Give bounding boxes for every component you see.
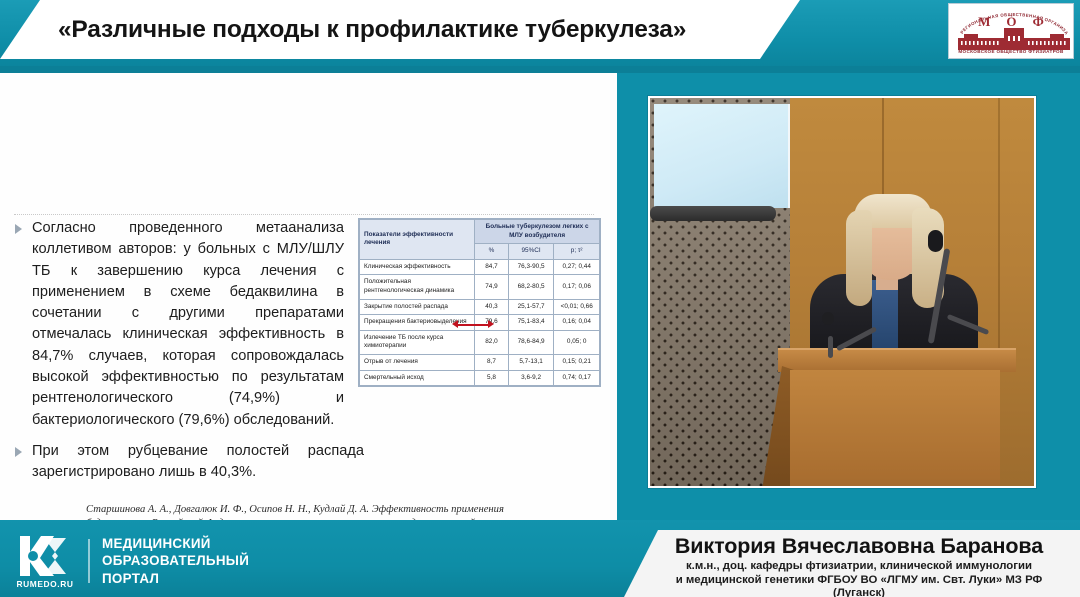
building-icon <box>958 28 1070 50</box>
rumedo-brand[interactable]: RUMEDO.RU МЕДИЦИНСКИЙ ОБРАЗОВАТЕЛЬНЫЙ ПО… <box>14 534 249 588</box>
col-header-indicators: Показатели эффективности лечения <box>360 220 475 260</box>
header-underline <box>0 66 1080 73</box>
rumedo-logo-icon: RUMEDO.RU <box>14 534 76 588</box>
row-percent: 8,7 <box>475 354 509 370</box>
speaker-hair-left <box>846 210 872 306</box>
speaker-role-line: к.м.н., доц. кафедры фтизиатрии, клиниче… <box>630 560 1080 574</box>
tagline-line: ОБРАЗОВАТЕЛЬНЫЙ <box>102 552 249 570</box>
table-row: Закрытие полостей распада 40,3 25,1-57,7… <box>360 299 600 315</box>
row-label: Отрыв от лечения <box>360 354 475 370</box>
table-row: Клиническая эффективность 84,7 76,3-90,5… <box>360 259 600 275</box>
table-row: Прекращения бактериовыделения 79,6 75,1-… <box>360 315 600 331</box>
title-banner: «Различные подходы к профилактике туберк… <box>0 0 800 59</box>
speaker-name: Виктория Вячеславовна Баранова <box>630 534 1080 559</box>
microphone-head-icon <box>822 312 834 325</box>
col-header-p: p; τ² <box>554 244 600 260</box>
bullet-text-1: Согласно проведенного метаанализа коллет… <box>32 218 344 431</box>
page-title: «Различные подходы к профилактике туберк… <box>58 16 686 44</box>
row-p: 0,27; 0,44 <box>554 259 600 275</box>
mof-logo-inner: МЕЖРЕГИОНАЛЬНАЯ ОБЩЕСТВЕННАЯ ОРГАНИЗАЦИЯ… <box>951 6 1071 56</box>
row-ci: 78,6-84,9 <box>508 330 554 354</box>
row-p: 0,15; 0,21 <box>554 354 600 370</box>
screen-roller <box>650 206 776 221</box>
row-percent: 74,9 <box>475 275 509 299</box>
col-header-percent: % <box>475 244 509 260</box>
table-row: Смертельный исход 5,8 3,6-9,2 0,74; 0,17 <box>360 370 600 386</box>
rumedo-wordmark: RUMEDO.RU <box>14 579 76 589</box>
row-ci: 25,1-57,7 <box>508 299 554 315</box>
row-p: 0,05; 0 <box>554 330 600 354</box>
podium-top <box>778 348 1016 372</box>
row-p: 0,17; 0,06 <box>554 275 600 299</box>
row-label: Прекращения бактериовыделения <box>360 315 475 331</box>
row-label: Закрытие полостей распада <box>360 299 475 315</box>
slide-top-rule <box>14 214 594 215</box>
row-ci: 76,3-90,5 <box>508 259 554 275</box>
row-p: 0,74; 0,17 <box>554 370 600 386</box>
citation-line: Старшинова А. А., Довгалюк И. Ф., Осипов… <box>86 503 594 517</box>
row-ci: 3,6-9,2 <box>508 370 554 386</box>
table-row: Отрыв от лечения 8,7 5,7-13,1 0,15; 0,21 <box>360 354 600 370</box>
bullet-triangle-icon <box>14 447 24 457</box>
speaker-shirt <box>872 280 898 354</box>
speaker-role: к.м.н., доц. кафедры фтизиатрии, клиниче… <box>630 560 1080 597</box>
row-percent: 79,6 <box>475 315 509 331</box>
header-bar: «Различные подходы к профилактике туберк… <box>0 0 1080 73</box>
video-panel[interactable] <box>648 96 1036 488</box>
row-label: Излечение ТБ после курса химиотерапии <box>360 330 475 354</box>
row-percent: 40,3 <box>475 299 509 315</box>
col-header-group: Больные туберкулезом легких с МЛУ возбуд… <box>475 220 600 244</box>
speaker-banner: Виктория Вячеславовна Баранова к.м.н., д… <box>616 530 1080 597</box>
row-label: Клиническая эффективность <box>360 259 475 275</box>
efficacy-table-container: Показатели эффективности лечения Больные… <box>358 218 601 387</box>
table-row: Излечение ТБ после курса химиотерапии 82… <box>360 330 600 354</box>
projection-screen <box>654 104 790 208</box>
row-percent: 84,7 <box>475 259 509 275</box>
bullet-paragraph-2: При этом рубцевание полостей распада зар… <box>14 441 364 484</box>
efficacy-table: Показатели эффективности лечения Больные… <box>359 219 600 386</box>
podium-front <box>790 370 1000 486</box>
tagline-line: МЕДИЦИНСКИЙ <box>102 535 249 553</box>
divider <box>88 539 90 583</box>
row-percent: 82,0 <box>475 330 509 354</box>
col-header-ci: 95%CI <box>508 244 554 260</box>
speaker-role-line: (Луганск) <box>630 587 1080 597</box>
video-feed[interactable] <box>650 98 1034 486</box>
table-header-row: Показатели эффективности лечения Больные… <box>360 220 600 244</box>
mof-logo: МЕЖРЕГИОНАЛЬНАЯ ОБЩЕСТВЕННАЯ ОРГАНИЗАЦИЯ… <box>948 3 1074 59</box>
row-p: 0,16; 0,04 <box>554 315 600 331</box>
row-label: Положительная рентгенологическая динамик… <box>360 275 475 299</box>
rumedo-glyph-icon <box>14 534 76 578</box>
bullet-paragraph-1: Согласно проведенного метаанализа коллет… <box>14 218 344 431</box>
row-p: <0,01; 0,66 <box>554 299 600 315</box>
rumedo-tagline: МЕДИЦИНСКИЙ ОБРАЗОВАТЕЛЬНЫЙ ПОРТАЛ <box>102 535 249 588</box>
row-percent: 5,8 <box>475 370 509 386</box>
bullet-text-2: При этом рубцевание полостей распада зар… <box>32 441 364 484</box>
row-ci: 68,2-80,5 <box>508 275 554 299</box>
speaker-role-line: и медицинской генетики ФГБОУ ВО «ЛГМУ им… <box>630 574 1080 588</box>
tagline-line: ПОРТАЛ <box>102 570 249 588</box>
row-ci: 75,1-83,4 <box>508 315 554 331</box>
table-body: Клиническая эффективность 84,7 76,3-90,5… <box>360 259 600 385</box>
microphone-head-icon <box>928 230 943 252</box>
microphone-stem <box>828 336 833 358</box>
slide-panel: Согласно проведенного метаанализа коллет… <box>0 73 617 520</box>
bullet-triangle-icon <box>14 224 24 234</box>
row-label: Смертельный исход <box>360 370 475 386</box>
row-ci: 5,7-13,1 <box>508 354 554 370</box>
presentation-stage: «Различные подходы к профилактике туберк… <box>0 0 1080 597</box>
mof-caption: МОСКОВСКОЕ ОБЩЕСТВО ФТИЗИАТРОВ <box>951 49 1071 54</box>
footer-bar: RUMEDO.RU МЕДИЦИНСКИЙ ОБРАЗОВАТЕЛЬНЫЙ ПО… <box>0 520 1080 597</box>
table-row: Положительная рентгенологическая динамик… <box>360 275 600 299</box>
